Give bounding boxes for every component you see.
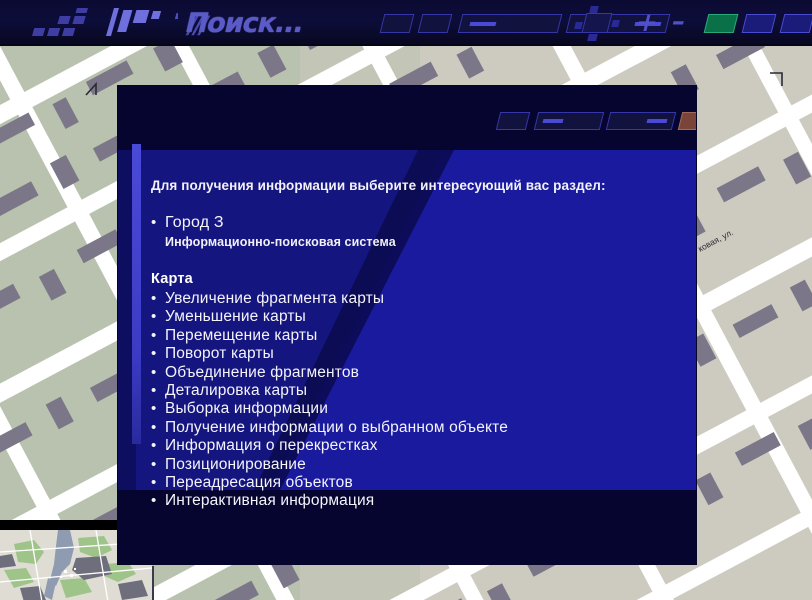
- bullet-icon: •: [151, 401, 165, 416]
- dialog-body: Для получения информации выберите интере…: [151, 178, 671, 511]
- map-feature-label: Получение информации о выбранном объекте: [165, 419, 508, 437]
- brand-title: Поиск...: [182, 6, 307, 40]
- map-feature-label: Перемещение карты: [165, 327, 317, 345]
- map-feature-list: •Увеличение фрагмента карты•Уменьшение к…: [151, 290, 671, 511]
- bullet-icon: •: [151, 420, 165, 435]
- map-section-title: Карта: [151, 271, 671, 287]
- status-indicator-green[interactable]: [704, 14, 739, 33]
- toolbar-field-3[interactable]: [582, 13, 613, 33]
- map-feature-item[interactable]: •Увеличение фрагмента карты: [151, 290, 671, 308]
- bullet-icon: •: [151, 365, 165, 380]
- bullet-icon: •: [151, 383, 165, 398]
- toolbar-field-1-dash: [470, 22, 497, 26]
- bullet-icon: •: [151, 493, 165, 508]
- toolbar-square-2[interactable]: [418, 14, 453, 33]
- map-feature-item[interactable]: •Интерактивная информация: [151, 492, 671, 510]
- application-window: ковая, ул.: [0, 0, 812, 600]
- map-section: Карта •Увеличение фрагмента карты•Уменьш…: [151, 271, 671, 511]
- dialog-close-button[interactable]: [678, 112, 696, 130]
- map-feature-item[interactable]: •Переадресация объектов: [151, 474, 671, 492]
- map-feature-label: Выборка информации: [165, 400, 328, 418]
- dialog-titlebar-controls: [498, 108, 688, 134]
- bullet-icon: •: [151, 438, 165, 453]
- top-toolbar: /// Поиск... + –: [0, 0, 812, 46]
- map-feature-item[interactable]: •Уменьшение карты: [151, 308, 671, 326]
- city-section: • Город З Информационно-поисковая систем…: [151, 214, 671, 249]
- dialog-button-1[interactable]: [496, 112, 530, 130]
- map-feature-item[interactable]: •Объединение фрагментов: [151, 364, 671, 382]
- city-section-title: Город З: [165, 214, 224, 232]
- map-feature-item[interactable]: •Перемещение карты: [151, 327, 671, 345]
- dialog-field-2-dash: [647, 119, 668, 123]
- city-section-subtitle: Информационно-поисковая система: [165, 235, 671, 249]
- map-feature-label: Уменьшение карты: [165, 308, 306, 326]
- map-feature-item[interactable]: •Получение информации о выбранном объект…: [151, 419, 671, 437]
- dialog-accent-bar: [132, 144, 141, 444]
- dialog-field-2[interactable]: [606, 112, 676, 130]
- map-feature-label: Переадресация объектов: [165, 474, 353, 492]
- bullet-icon: •: [151, 457, 165, 472]
- map-feature-label: Позиционирование: [165, 456, 306, 474]
- zoom-out-button[interactable]: –: [668, 7, 688, 37]
- dialog-field-1-dash: [543, 119, 564, 123]
- map-feature-label: Деталировка карты: [165, 382, 307, 400]
- map-feature-label: Объединение фрагментов: [165, 364, 359, 382]
- toolbar-square-1[interactable]: [380, 14, 415, 33]
- bullet-icon: •: [151, 475, 165, 490]
- map-feature-label: Информация о перекрестках: [165, 437, 378, 455]
- dialog-field-1[interactable]: [534, 112, 604, 130]
- dialog-intro-text: Для получения информации выберите интере…: [151, 178, 671, 193]
- app-logo: [18, 8, 178, 40]
- map-feature-label: Увеличение фрагмента карты: [165, 290, 384, 308]
- bullet-icon: •: [151, 328, 165, 343]
- map-feature-label: Поворот карты: [165, 345, 274, 363]
- map-feature-item[interactable]: •Деталировка карты: [151, 382, 671, 400]
- bullet-icon: •: [151, 346, 165, 361]
- map-feature-item[interactable]: •Позиционирование: [151, 456, 671, 474]
- map-feature-item[interactable]: •Поворот карты: [151, 345, 671, 363]
- toolbar-field-1[interactable]: [458, 14, 563, 33]
- information-dialog: Для получения информации выберите интере…: [118, 86, 696, 564]
- city-section-item[interactable]: • Город З: [151, 214, 671, 232]
- bullet-icon: •: [151, 309, 165, 324]
- zoom-in-button[interactable]: +: [632, 8, 661, 38]
- overview-inset-rule: [152, 566, 154, 600]
- map-feature-item[interactable]: •Информация о перекрестках: [151, 437, 671, 455]
- marker-dot-3: [587, 34, 598, 41]
- toolbar-button-blue-1[interactable]: [742, 14, 777, 33]
- map-feature-item[interactable]: •Выборка информации: [151, 400, 671, 418]
- bullet-icon: •: [151, 291, 165, 306]
- map-feature-label: Интерактивная информация: [165, 492, 374, 510]
- marker-dot-2: [589, 6, 599, 13]
- bullet-icon: •: [151, 215, 165, 230]
- toolbar-button-blue-2[interactable]: [780, 14, 812, 33]
